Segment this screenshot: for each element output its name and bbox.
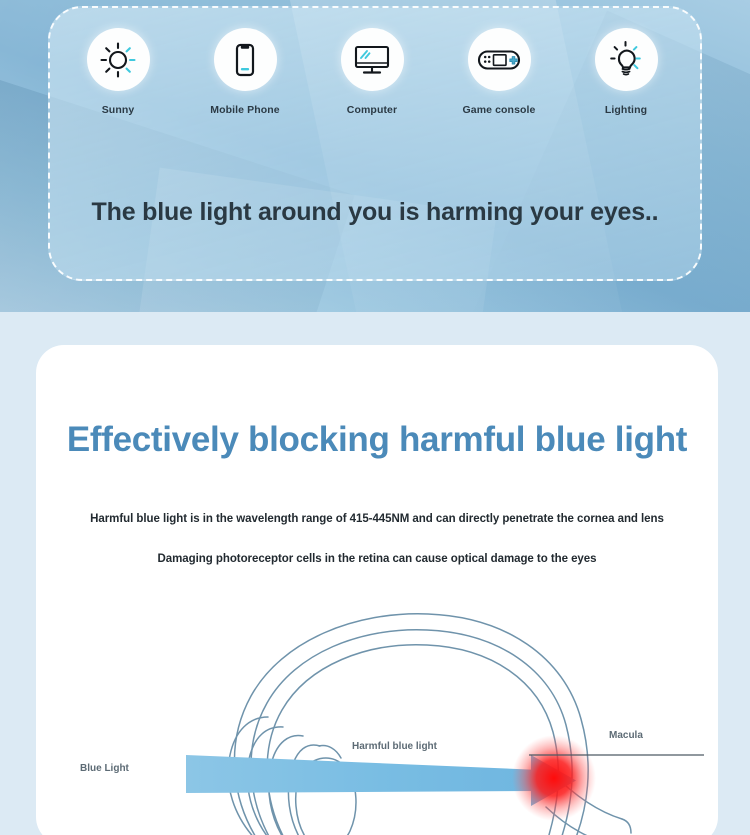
icon-bubble [468,28,531,91]
lightbulb-icon [605,39,647,81]
icon-label: Computer [347,104,397,116]
page-title: Effectively blocking harmful blue light [36,420,718,460]
icon-item-lighting[interactable]: Lighting [570,28,682,116]
icon-item-computer[interactable]: Computer [316,28,428,116]
icon-item-game-console[interactable]: Game console [443,28,555,116]
label-harmful-blue-light: Harmful blue light [352,741,437,752]
handheld-game-console-icon [476,39,522,81]
page-root: Sunny Mobile Phone [0,0,750,835]
feature-subtitle-1: Harmful blue light is in the wavelength … [36,513,718,525]
eye-cross-section-diagram: Blue Light Harmful blue light Macula [36,595,718,835]
icon-bubble [341,28,404,91]
icon-bubble [595,28,658,91]
label-blue-light: Blue Light [80,763,129,774]
icon-label: Lighting [605,104,647,116]
sun-icon [98,40,138,80]
hero-headline: The blue light around you is harming you… [0,198,750,227]
desktop-monitor-icon [351,39,393,81]
icon-label: Game console [463,104,536,116]
icon-label: Sunny [102,104,135,116]
light-source-icon-row: Sunny Mobile Phone [62,28,682,116]
smartphone-icon [225,40,265,80]
feature-subtitle-2: Damaging photoreceptor cells in the reti… [36,553,718,565]
icon-bubble [87,28,150,91]
icon-label: Mobile Phone [210,104,279,116]
icon-item-sunny[interactable]: Sunny [62,28,174,116]
label-macula: Macula [609,730,643,741]
hero-banner: Sunny Mobile Phone [0,0,750,312]
feature-card: Effectively blocking harmful blue light … [36,345,718,835]
feature-section: Effectively blocking harmful blue light … [0,312,750,835]
icon-item-mobile-phone[interactable]: Mobile Phone [189,28,301,116]
icon-bubble [214,28,277,91]
